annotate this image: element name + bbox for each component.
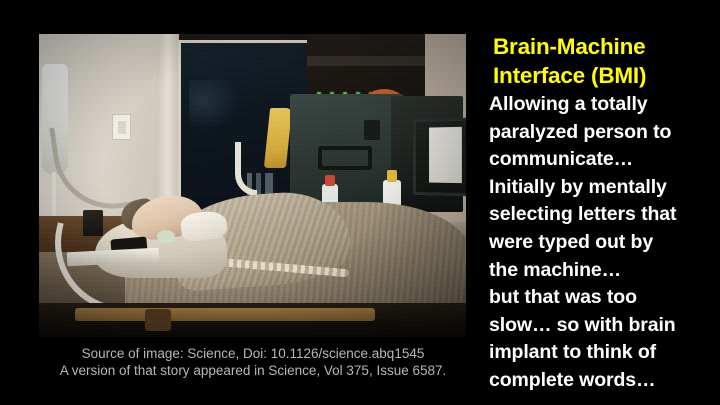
body-line-3: communicate…: [489, 146, 717, 174]
case-latch: [364, 120, 380, 140]
presentation-slide: Source of image: Science, Doi: 10.1126/s…: [0, 0, 720, 405]
monitor-screen: [429, 127, 462, 183]
body-line-6: were typed out by: [489, 229, 717, 257]
patient-photo: [39, 34, 466, 337]
body-line-4: Initially by mentally: [489, 174, 717, 202]
body-line-10: implant to think of: [489, 339, 717, 367]
caption-line-1: Source of image: Science, Doi: 10.1126/s…: [39, 345, 467, 362]
body-line-2: paralyzed person to: [489, 119, 717, 147]
body-line-9: slow… so with brain: [489, 312, 717, 340]
slide-title-line-1: Brain-Machine: [493, 32, 717, 61]
small-monitor: [83, 210, 103, 236]
rack-shelf: [307, 56, 425, 66]
slide-text-column: Brain-Machine Interface (BMI) Allowing a…: [489, 32, 717, 395]
breathing-mask: [157, 230, 175, 243]
bed-rail-wood-trim: [75, 308, 375, 321]
slide-title: Brain-Machine Interface (BMI): [493, 32, 717, 90]
bed-rail-knob: [145, 309, 171, 331]
body-line-7: the machine…: [489, 257, 717, 285]
body-line-1: Allowing a totally: [489, 91, 717, 119]
body-line-5: selecting letters that: [489, 201, 717, 229]
caption-line-2: A version of that story appeared in Scie…: [39, 362, 467, 379]
bed-frame-rail: [39, 303, 466, 337]
body-line-11: complete words…: [489, 367, 717, 395]
slide-body-text: Allowing a totally paralyzed person to c…: [489, 91, 717, 395]
slide-title-line-2: Interface (BMI): [493, 61, 717, 90]
bedside-monitor: [413, 117, 466, 197]
image-source-caption: Source of image: Science, Doi: 10.1126/s…: [39, 345, 467, 379]
body-line-8: but that was too: [489, 284, 717, 312]
photo-scene: [39, 34, 466, 337]
